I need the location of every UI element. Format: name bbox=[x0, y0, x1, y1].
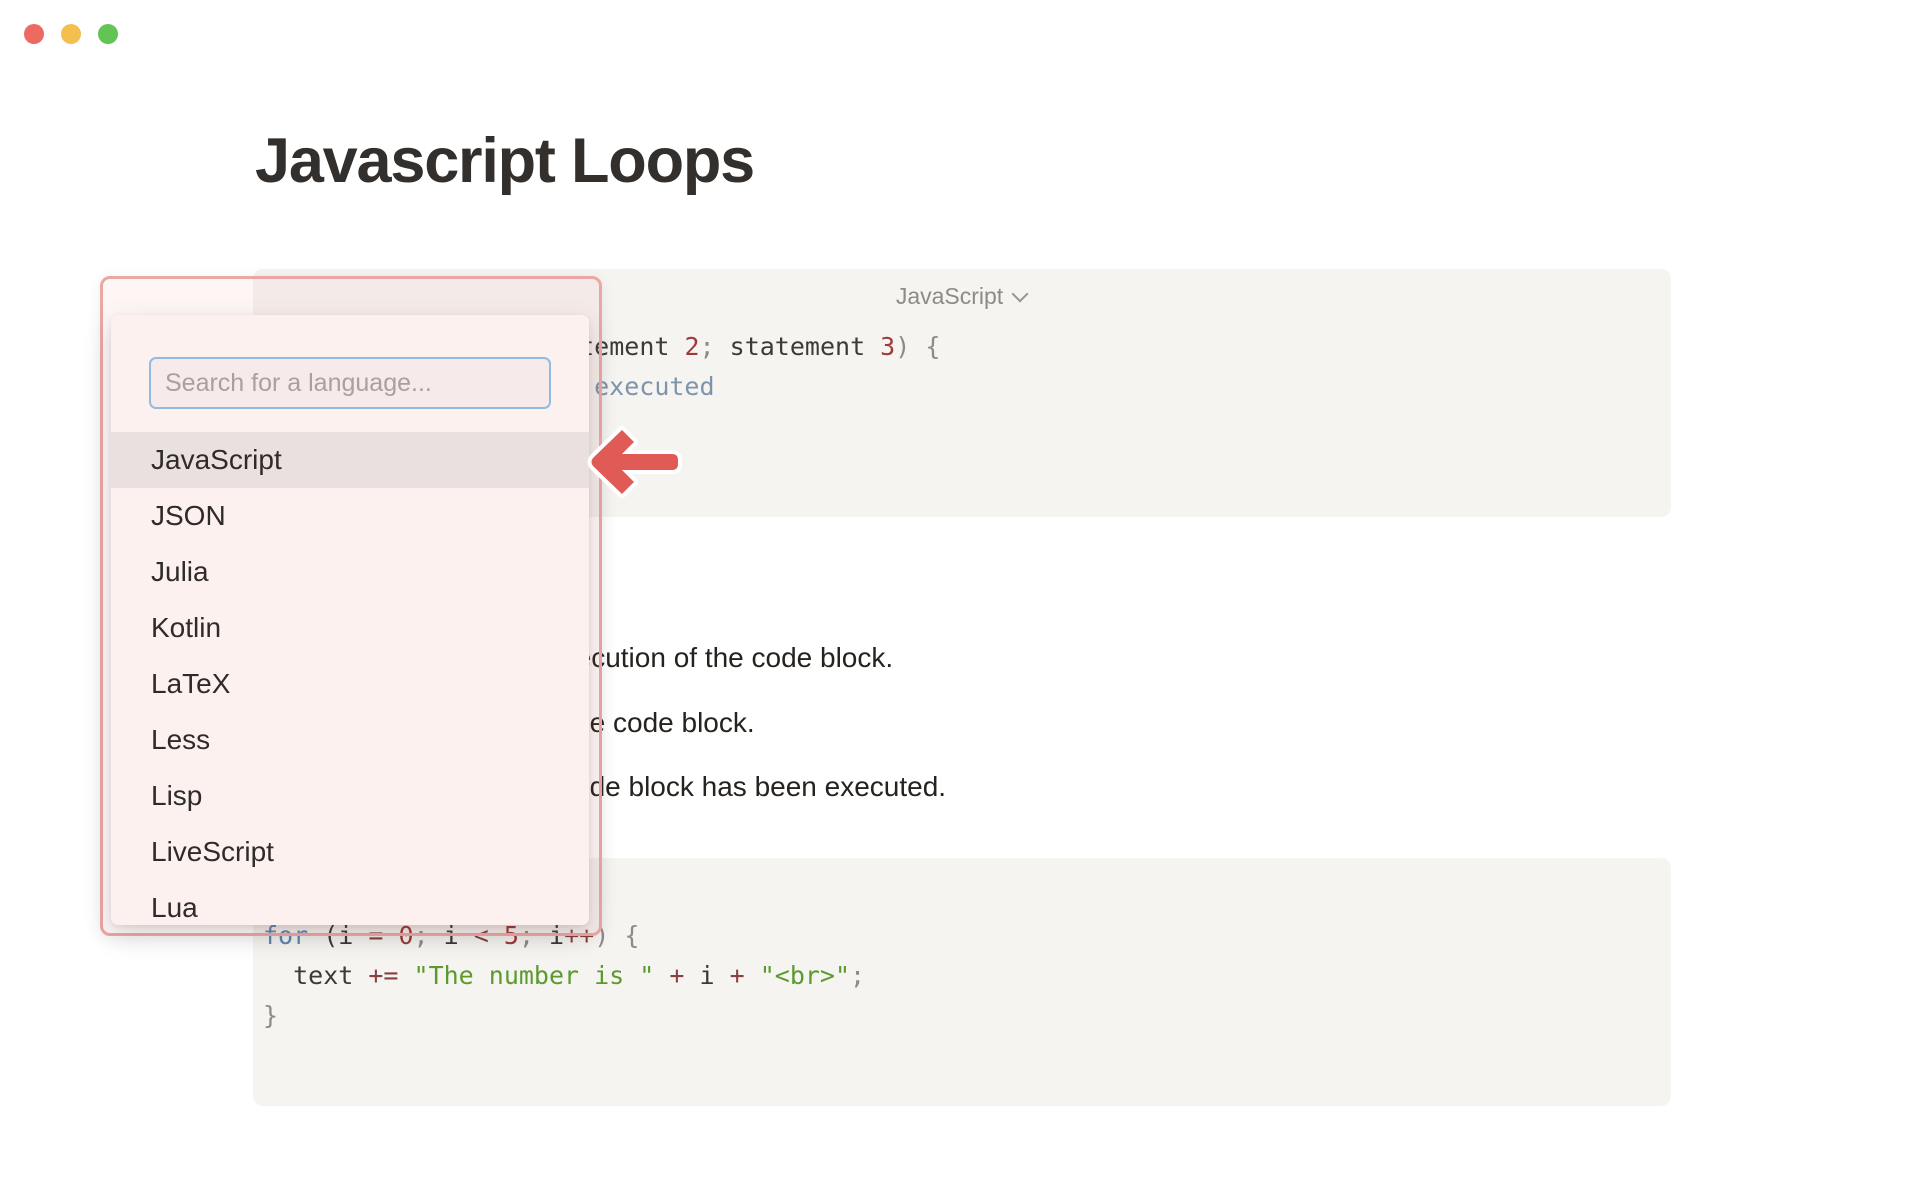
code-token: } bbox=[263, 1001, 278, 1030]
traffic-light-group bbox=[24, 24, 118, 44]
code-token: + bbox=[669, 961, 699, 990]
language-selector-label: JavaScript bbox=[896, 283, 1003, 310]
language-option-label: Lisp bbox=[151, 780, 202, 811]
code-token: i bbox=[549, 921, 564, 950]
language-option-javascript[interactable]: JavaScript bbox=[111, 432, 589, 488]
code-token: 2 bbox=[684, 332, 699, 361]
code-token: "The number is " bbox=[414, 961, 670, 990]
language-dropdown-panel[interactable]: JavaScriptJSONJuliaKotlinLaTeXLessLispLi… bbox=[111, 315, 589, 925]
code-token: ; bbox=[700, 332, 730, 361]
code-token: { bbox=[624, 921, 639, 950]
language-option-label: JSON bbox=[151, 500, 226, 531]
code-token: ) bbox=[895, 332, 925, 361]
maximize-window-button[interactable] bbox=[98, 24, 118, 44]
code-token: i bbox=[444, 921, 474, 950]
minimize-window-button[interactable] bbox=[61, 24, 81, 44]
code-token: for bbox=[263, 921, 323, 950]
code-block-language-bar: JavaScript bbox=[253, 281, 1671, 317]
language-option-lisp[interactable]: Lisp bbox=[111, 768, 589, 824]
language-option-livescript[interactable]: LiveScript bbox=[111, 824, 589, 880]
code-token: < bbox=[474, 921, 504, 950]
chevron-down-icon bbox=[1013, 287, 1028, 302]
language-option-label: Less bbox=[151, 724, 210, 755]
close-window-button[interactable] bbox=[24, 24, 44, 44]
code-token: "<br>" bbox=[760, 961, 850, 990]
code-token: ; bbox=[519, 921, 549, 950]
code-block-2-code: for (i = 0; i < 5; i++) { text += "The n… bbox=[253, 916, 1671, 1036]
code-token: += bbox=[368, 961, 413, 990]
language-option-label: LiveScript bbox=[151, 836, 274, 867]
language-option-latex[interactable]: LaTeX bbox=[111, 656, 589, 712]
code-token: (i bbox=[323, 921, 368, 950]
code-token: + bbox=[730, 961, 760, 990]
code-token: i bbox=[700, 961, 730, 990]
language-option-lua[interactable]: Lua bbox=[111, 880, 589, 925]
language-option-label: JavaScript bbox=[151, 444, 282, 475]
language-option-json[interactable]: JSON bbox=[111, 488, 589, 544]
code-line: } bbox=[263, 996, 1671, 1036]
app-window: Javascript Loops JavaScript for (stateme… bbox=[0, 0, 1920, 1200]
code-token: = bbox=[368, 921, 398, 950]
language-option-label: Kotlin bbox=[151, 612, 221, 643]
code-token: ++ bbox=[564, 921, 594, 950]
language-option-label: Julia bbox=[151, 556, 209, 587]
code-token: 5 bbox=[504, 921, 519, 950]
code-token: 3 bbox=[880, 332, 895, 361]
code-token: ; bbox=[850, 961, 865, 990]
code-token: ; bbox=[414, 921, 444, 950]
code-token: { bbox=[925, 332, 940, 361]
language-option-kotlin[interactable]: Kotlin bbox=[111, 600, 589, 656]
code-token: statement bbox=[730, 332, 881, 361]
code-line: text += "The number is " + i + "<br>"; bbox=[263, 956, 1671, 996]
code-token: 0 bbox=[398, 921, 413, 950]
code-token: ) bbox=[594, 921, 624, 950]
language-option-list[interactable]: JavaScriptJSONJuliaKotlinLaTeXLessLispLi… bbox=[111, 432, 589, 925]
page-title: Javascript Loops bbox=[255, 126, 754, 197]
language-option-less[interactable]: Less bbox=[111, 712, 589, 768]
code-token: text bbox=[263, 961, 368, 990]
language-option-label: LaTeX bbox=[151, 668, 230, 699]
title-bar bbox=[0, 0, 1920, 66]
language-option-julia[interactable]: Julia bbox=[111, 544, 589, 600]
language-option-label: Lua bbox=[151, 892, 198, 923]
language-selector-button[interactable]: JavaScript bbox=[890, 281, 1034, 312]
search-input[interactable] bbox=[149, 357, 551, 409]
